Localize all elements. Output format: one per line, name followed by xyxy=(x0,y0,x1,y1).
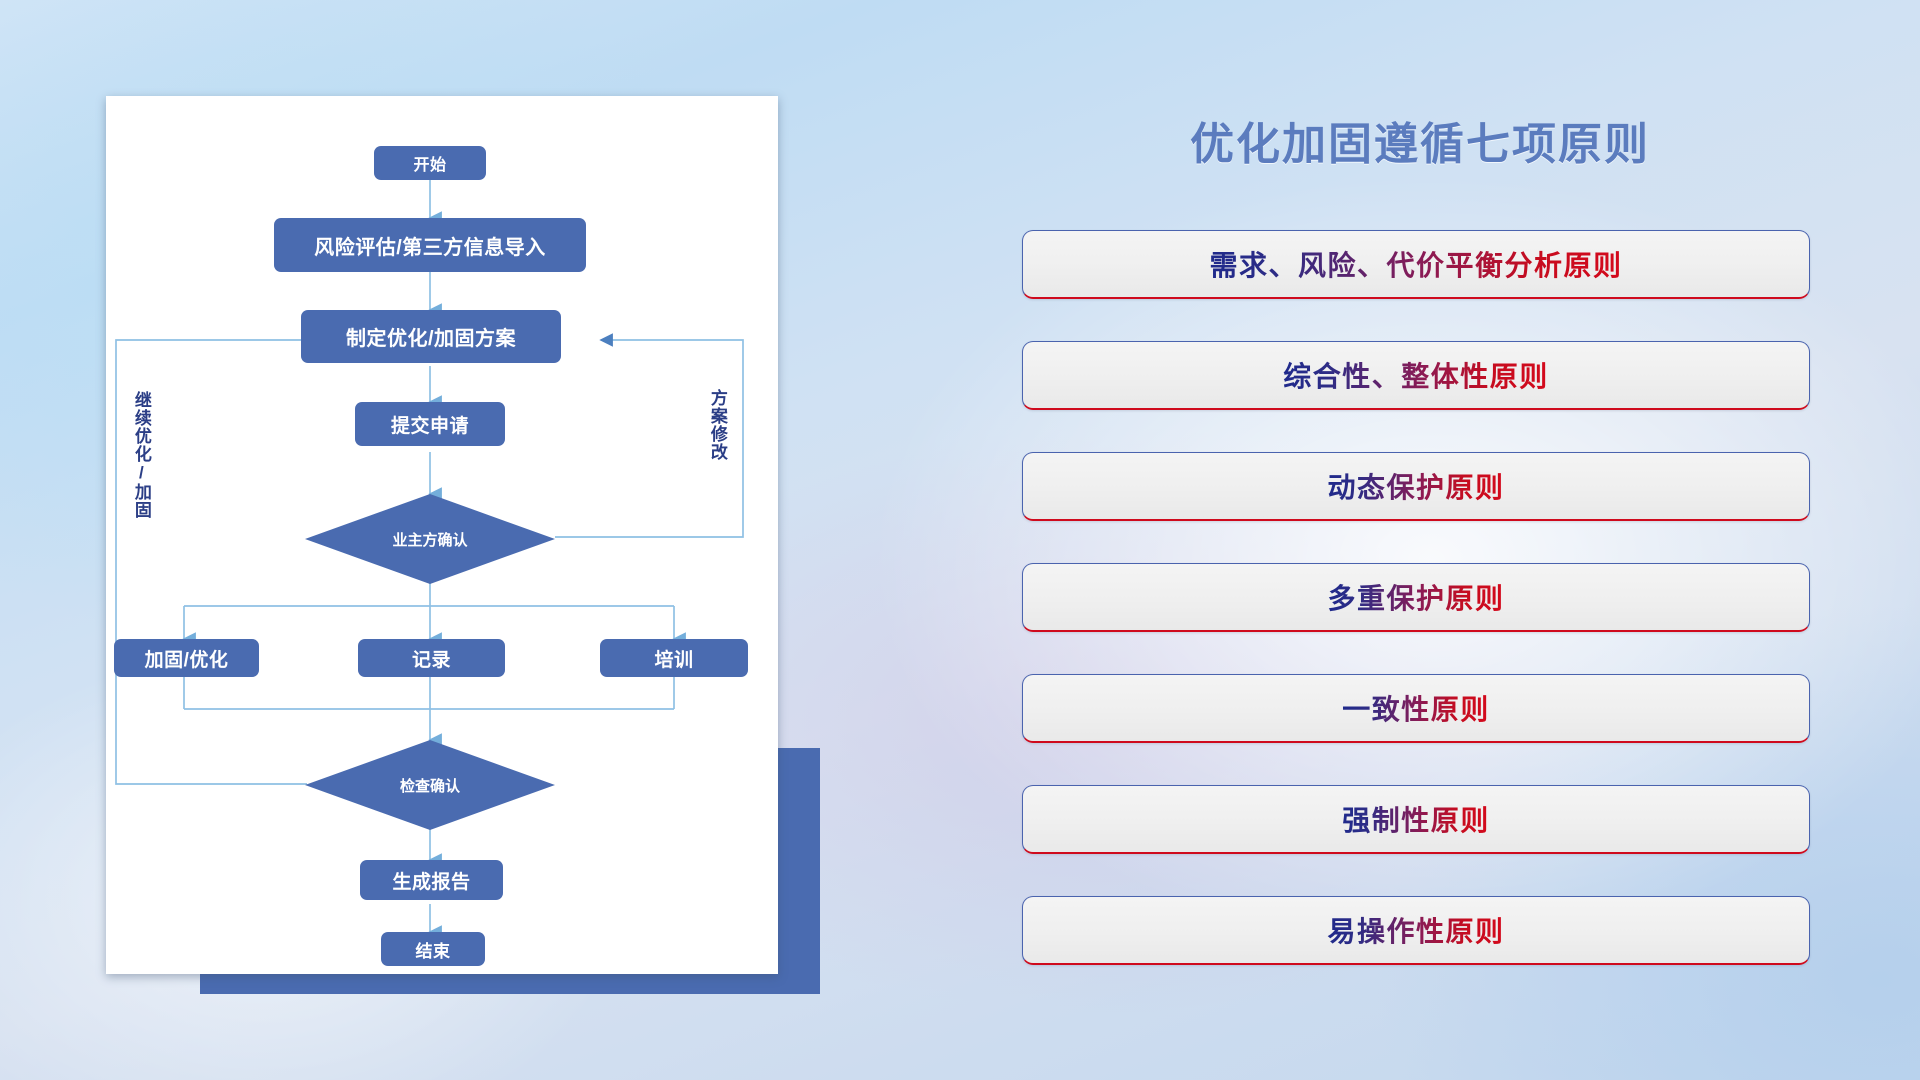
slide-canvas: 开始 风险评估/第三方信息导入 制定优化/加固方案 提交申请 业主方确认 加固/… xyxy=(0,0,1920,1080)
flow-node-owner-confirm-label: 业主方确认 xyxy=(392,529,467,550)
flow-node-check-confirm[interactable]: 检查确认 xyxy=(305,740,555,830)
principle-label: 强制性原则 xyxy=(1342,799,1490,839)
principle-item[interactable]: 一致性原则 xyxy=(1022,674,1810,743)
page-title: 优化加固遵循七项原则 xyxy=(1020,108,1820,172)
principle-label: 动态保护原则 xyxy=(1327,466,1504,506)
principle-label: 易操作性原则 xyxy=(1327,910,1504,950)
flow-node-training[interactable]: 培训 xyxy=(600,639,748,677)
flow-node-owner-confirm[interactable]: 业主方确认 xyxy=(305,494,555,584)
flow-node-submit-label: 提交申请 xyxy=(391,411,469,438)
flow-node-record-label: 记录 xyxy=(412,645,451,672)
flow-node-report[interactable]: 生成报告 xyxy=(360,860,503,900)
flow-node-start[interactable]: 开始 xyxy=(374,146,486,180)
flow-node-plan-label: 制定优化/加固方案 xyxy=(346,322,516,351)
flow-node-training-label: 培训 xyxy=(654,645,693,672)
flow-node-end-label: 结束 xyxy=(416,937,451,962)
principle-label: 多重保护原则 xyxy=(1327,577,1504,617)
principle-item[interactable]: 需求、风险、代价平衡分析原则 xyxy=(1022,230,1810,299)
edge-label-continue-optimize: 继续优化/加固 xyxy=(132,391,150,571)
edge-label-plan-revision: 方案修改 xyxy=(708,389,726,519)
principle-label: 需求、风险、代价平衡分析原则 xyxy=(1209,244,1622,284)
principle-item[interactable]: 动态保护原则 xyxy=(1022,452,1810,521)
principle-item[interactable]: 综合性、整体性原则 xyxy=(1022,341,1810,410)
flow-node-record[interactable]: 记录 xyxy=(358,639,505,677)
flow-node-submit[interactable]: 提交申请 xyxy=(355,402,505,446)
flowchart: 开始 风险评估/第三方信息导入 制定优化/加固方案 提交申请 业主方确认 加固/… xyxy=(106,96,778,974)
flowchart-card: 开始 风险评估/第三方信息导入 制定优化/加固方案 提交申请 业主方确认 加固/… xyxy=(106,96,778,974)
principle-item[interactable]: 易操作性原则 xyxy=(1022,896,1810,965)
principle-item[interactable]: 多重保护原则 xyxy=(1022,563,1810,632)
flow-node-reinforce-label: 加固/优化 xyxy=(145,645,229,672)
flow-node-end[interactable]: 结束 xyxy=(381,932,485,966)
principle-label: 综合性、整体性原则 xyxy=(1283,355,1549,395)
flow-node-reinforce[interactable]: 加固/优化 xyxy=(114,639,259,677)
flow-node-start-label: 开始 xyxy=(413,151,446,175)
flow-node-report-label: 生成报告 xyxy=(392,867,470,894)
flow-node-risk-assessment[interactable]: 风险评估/第三方信息导入 xyxy=(274,218,586,272)
principles-list: 需求、风险、代价平衡分析原则 综合性、整体性原则 动态保护原则 多重保护原则 一… xyxy=(1022,230,1810,1007)
flow-node-check-confirm-label: 检查确认 xyxy=(400,775,460,796)
flow-node-plan[interactable]: 制定优化/加固方案 xyxy=(301,310,561,363)
flow-node-risk-assessment-label: 风险评估/第三方信息导入 xyxy=(314,231,546,260)
principle-label: 一致性原则 xyxy=(1342,688,1490,728)
principle-item[interactable]: 强制性原则 xyxy=(1022,785,1810,854)
